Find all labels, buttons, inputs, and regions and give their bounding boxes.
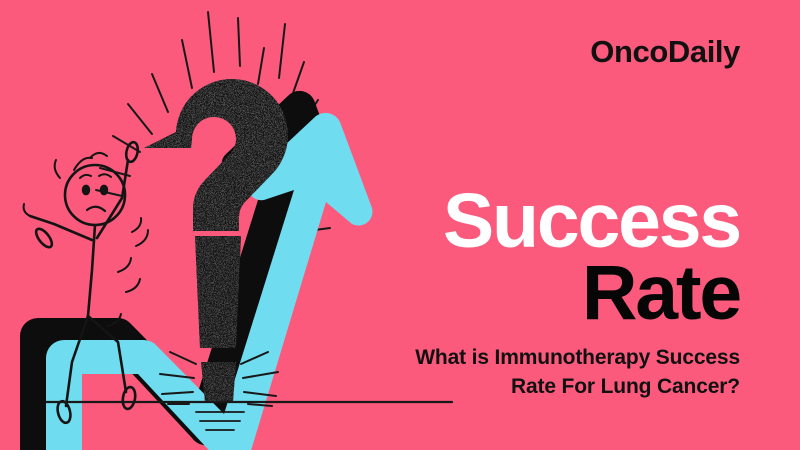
- subtitle-line-2-prefix: Rate For: [511, 375, 601, 398]
- subtitle: What is Immunotherapy Success Rate For L…: [320, 344, 740, 402]
- subtitle-line-1: What is Immunotherapy Success: [415, 346, 740, 369]
- stick-figure-eyebrow-left: [80, 175, 91, 178]
- page-title: Success Rate: [443, 186, 740, 329]
- headline-line-2: Rate: [443, 258, 740, 330]
- poster-canvas: OncoDaily Success Rate What is Immunothe…: [0, 0, 800, 450]
- stick-figure-eyebrow-right: [99, 174, 111, 177]
- stick-figure-hand-left: [33, 226, 54, 249]
- stick-figure-eye-right: [100, 185, 108, 196]
- stick-figure-foot-right: [121, 386, 137, 410]
- exclamation-mark: [195, 236, 241, 402]
- brand-logo[interactable]: OncoDaily: [590, 36, 740, 67]
- stick-figure-mouth: [87, 207, 105, 211]
- subtitle-line-2-emphasis: Lung Cancer?: [601, 375, 740, 398]
- headline-line-1: Success: [443, 186, 740, 258]
- stick-figure-eye-left: [82, 185, 90, 196]
